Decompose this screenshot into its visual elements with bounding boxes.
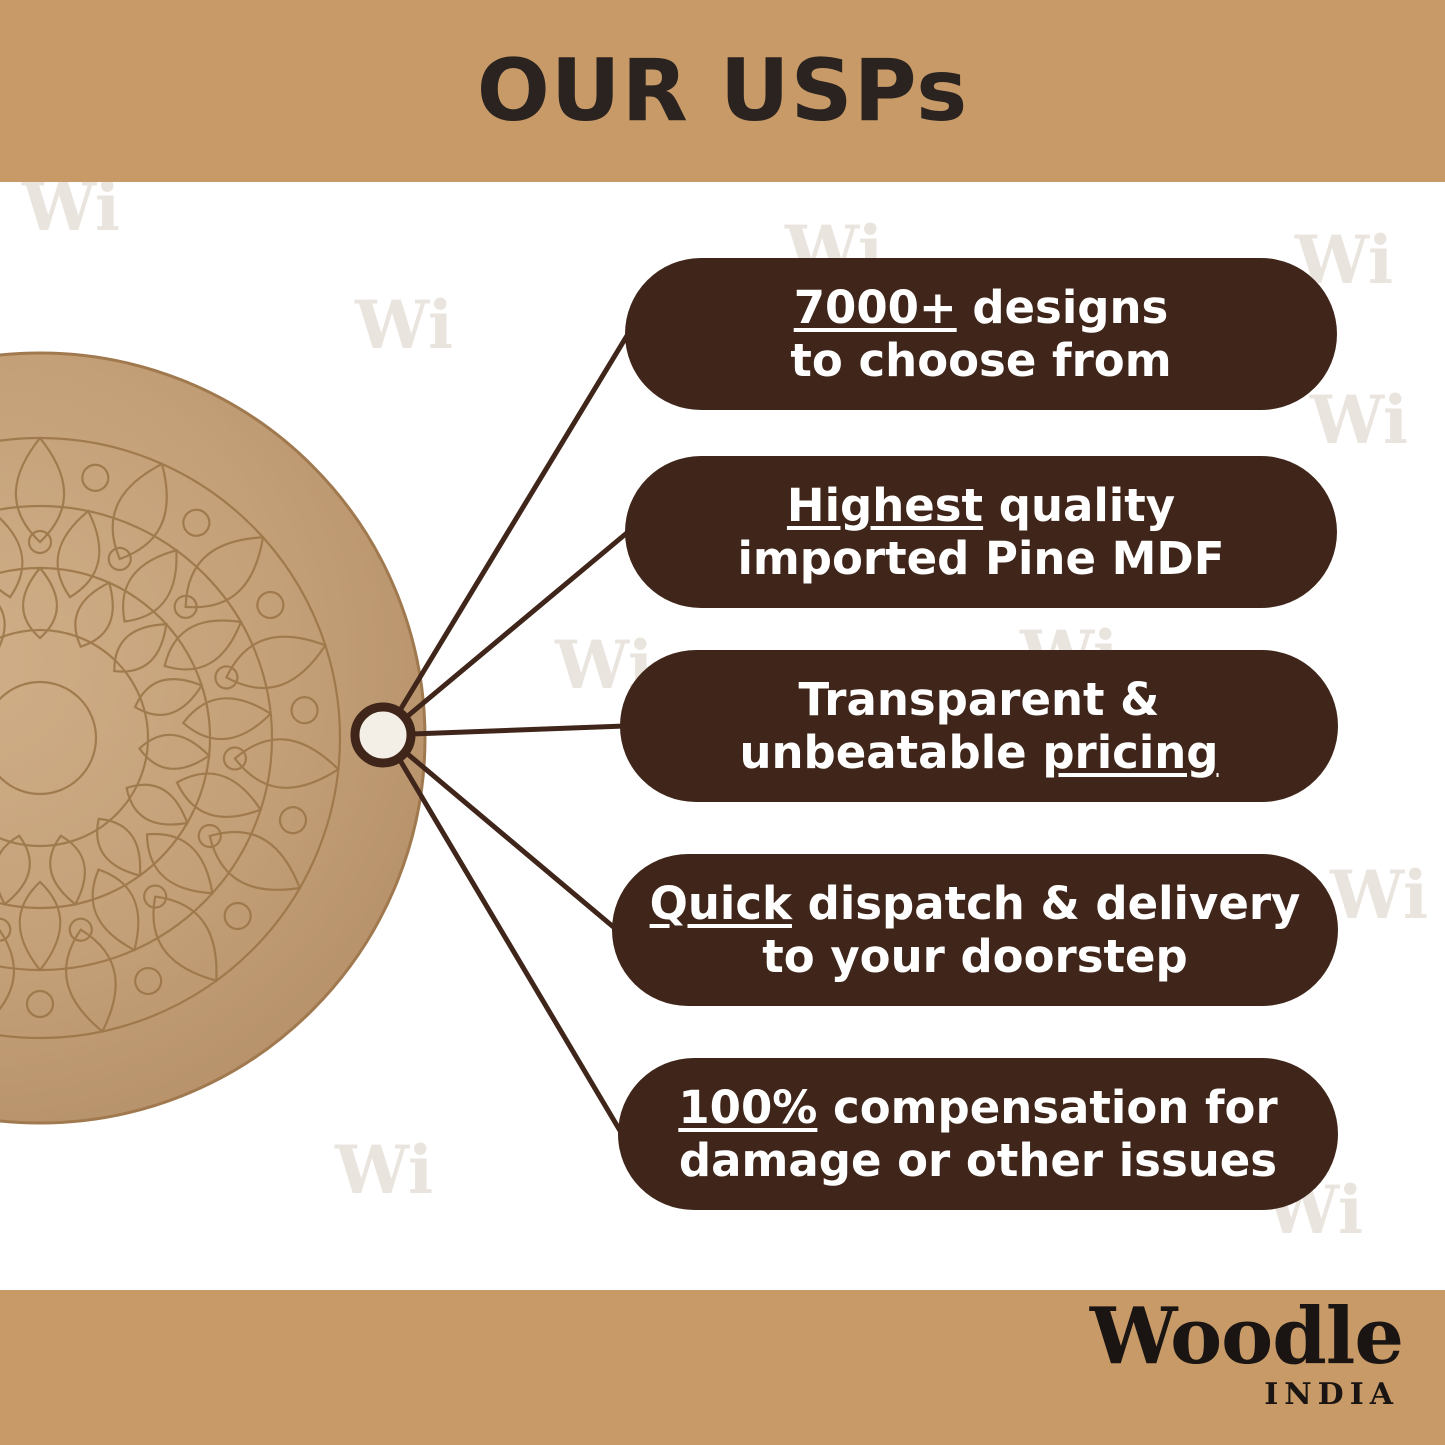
usp-line1-rest: quality (983, 479, 1175, 532)
usp-line2: to your doorstep (762, 930, 1188, 983)
usp-card-designs[interactable]: 7000+ designs to choose from (625, 258, 1337, 410)
usp-card-dispatch[interactable]: Quick dispatch & delivery to your doorst… (612, 854, 1338, 1006)
usp-highlight: 100% (678, 1081, 817, 1134)
usp-line2: damage or other issues (679, 1134, 1277, 1187)
usp-highlight: 7000+ (794, 281, 957, 334)
page-title: OUR USPs (0, 0, 1445, 182)
usp-highlight: Quick (650, 877, 792, 930)
usp-card-pricing[interactable]: Transparent & unbeatable pricing (620, 650, 1338, 802)
brand-subtitle: INDIA (1090, 1380, 1399, 1410)
usp-card-compensation[interactable]: 100% compensation for damage or other is… (618, 1058, 1338, 1210)
usp-highlight: Highest (787, 479, 983, 532)
usp-card-quality[interactable]: Highest quality imported Pine MDF (625, 456, 1337, 608)
usp-line2: imported Pine MDF (737, 532, 1224, 585)
brand-name: Woodle (1090, 1298, 1403, 1376)
usp-line2: to choose from (790, 334, 1171, 387)
usp-line1: Transparent & (799, 673, 1160, 726)
usp-line1-rest: compensation for (817, 1081, 1277, 1134)
brand-logo: Woodle INDIA (1090, 1298, 1403, 1410)
usp-line2-rest: unbeatable (739, 726, 1042, 779)
connector-hub (355, 707, 411, 763)
usp-line1-rest: dispatch & delivery (792, 877, 1300, 930)
content-canvas: Wi Wi Wi Wi Wi Wi Wi Wi Wi Wi (0, 182, 1445, 1290)
usp-highlight: pricing (1042, 726, 1218, 779)
usp-line1-rest: designs (957, 281, 1169, 334)
usp-infographic: OUR USPs Wi Wi Wi Wi Wi Wi Wi Wi Wi Wi (0, 0, 1445, 1445)
